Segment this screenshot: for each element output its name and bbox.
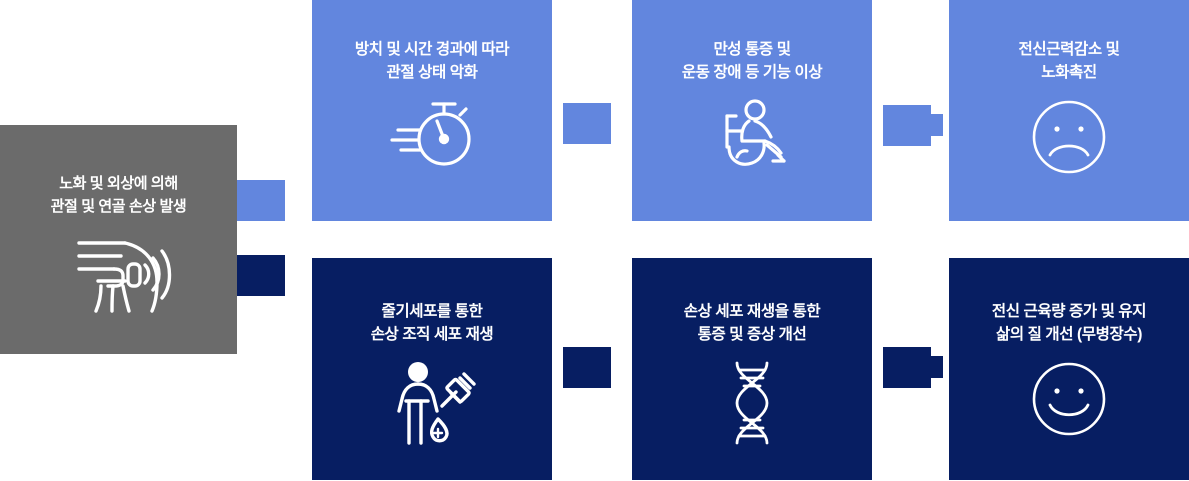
connector-arrow-tab: [931, 356, 943, 378]
connector-body: [237, 180, 285, 221]
connector-body: [237, 255, 285, 296]
patient-injection-icon: [390, 361, 474, 447]
solution-card-2: 손상 세포 재생을 통한 통증 및 증상 개선: [632, 258, 872, 480]
problem-card-3: 전신근력감소 및 노화촉진: [949, 0, 1189, 221]
origin-card-title: 노화 및 외상에 의해 관절 및 연골 손상 발생: [51, 173, 187, 218]
problem-card-3-title: 전신근력감소 및 노화촉진: [1019, 38, 1120, 85]
origin-card: 노화 및 외상에 의해 관절 및 연골 손상 발생: [0, 125, 237, 354]
wheelchair-icon: [715, 99, 789, 167]
connector-body: [883, 347, 931, 388]
smiley-face-icon: [1031, 361, 1107, 437]
stopwatch-icon: [388, 99, 476, 169]
problem-card-1: 방치 및 시간 경과에 따라 관절 상태 악화: [312, 0, 552, 221]
knee-joint-pain-icon: [65, 234, 173, 312]
connector-arrow-tab: [931, 114, 943, 136]
problem-card-2-title: 만성 통증 및 운동 장애 등 기능 이상: [682, 38, 822, 85]
solution-card-3: 전신 근육량 증가 및 유지 삶의 질 개선 (무병장수): [949, 258, 1189, 480]
problem-card-1-title: 방치 및 시간 경과에 따라 관절 상태 악화: [355, 38, 509, 85]
flow-diagram: 노화 및 외상에 의해 관절 및 연골 손상 발생: [0, 0, 1189, 481]
sad-face-icon: [1031, 99, 1107, 175]
solution-card-3-title: 전신 근육량 증가 및 유지 삶의 질 개선 (무병장수): [992, 300, 1146, 347]
solution-card-2-title: 손상 세포 재생을 통한 통증 및 증상 개선: [684, 300, 820, 347]
solution-card-1: 줄기세포를 통한 손상 조직 세포 재생: [312, 258, 552, 480]
connector-body: [563, 103, 611, 144]
dna-helix-icon: [726, 361, 778, 445]
connector-body: [563, 347, 611, 388]
problem-card-2: 만성 통증 및 운동 장애 등 기능 이상: [632, 0, 872, 221]
solution-card-1-title: 줄기세포를 통한 손상 조직 세포 재생: [371, 300, 494, 347]
connector-body: [883, 105, 931, 146]
